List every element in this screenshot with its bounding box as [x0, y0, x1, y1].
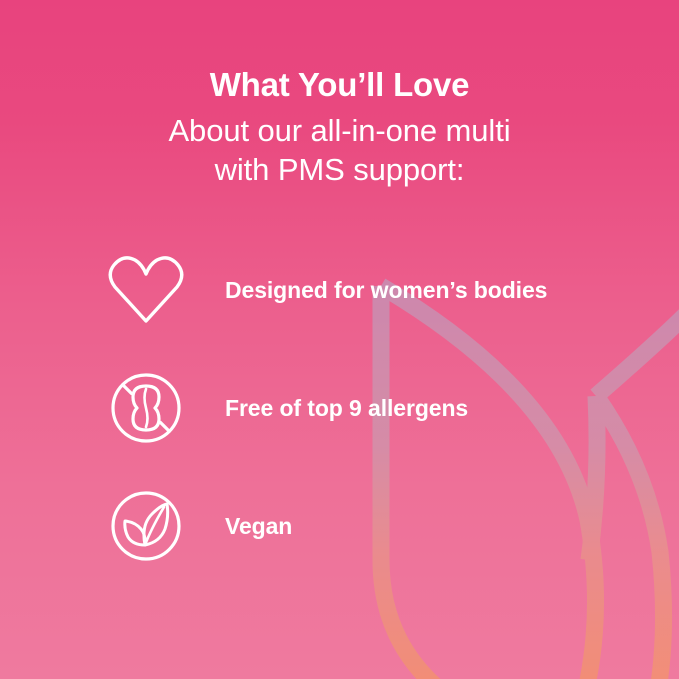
- heart-icon: [104, 248, 188, 332]
- page-title: What You’ll Love: [0, 66, 679, 105]
- leaves-vegan-icon: [104, 484, 188, 568]
- feature-label: Free of top 9 allergens: [225, 395, 468, 422]
- promo-poster: What You’ll Love About our all-in-one mu…: [0, 0, 679, 679]
- feature-item-designed-for-womens-bodies: Designed for women’s bodies: [104, 248, 547, 332]
- headline-block: What You’ll Love About our all-in-one mu…: [0, 66, 679, 190]
- feature-label: Vegan: [225, 513, 292, 540]
- no-peanut-icon: [104, 366, 188, 450]
- headline-subtitle-line-1: About our all-in-one multi: [0, 111, 679, 150]
- headline-subtitle-line-2: with PMS support:: [0, 150, 679, 189]
- feature-item-free-of-top-9-allergens: Free of top 9 allergens: [104, 366, 468, 450]
- feature-label: Designed for women’s bodies: [225, 277, 547, 304]
- feature-item-vegan: Vegan: [104, 484, 292, 568]
